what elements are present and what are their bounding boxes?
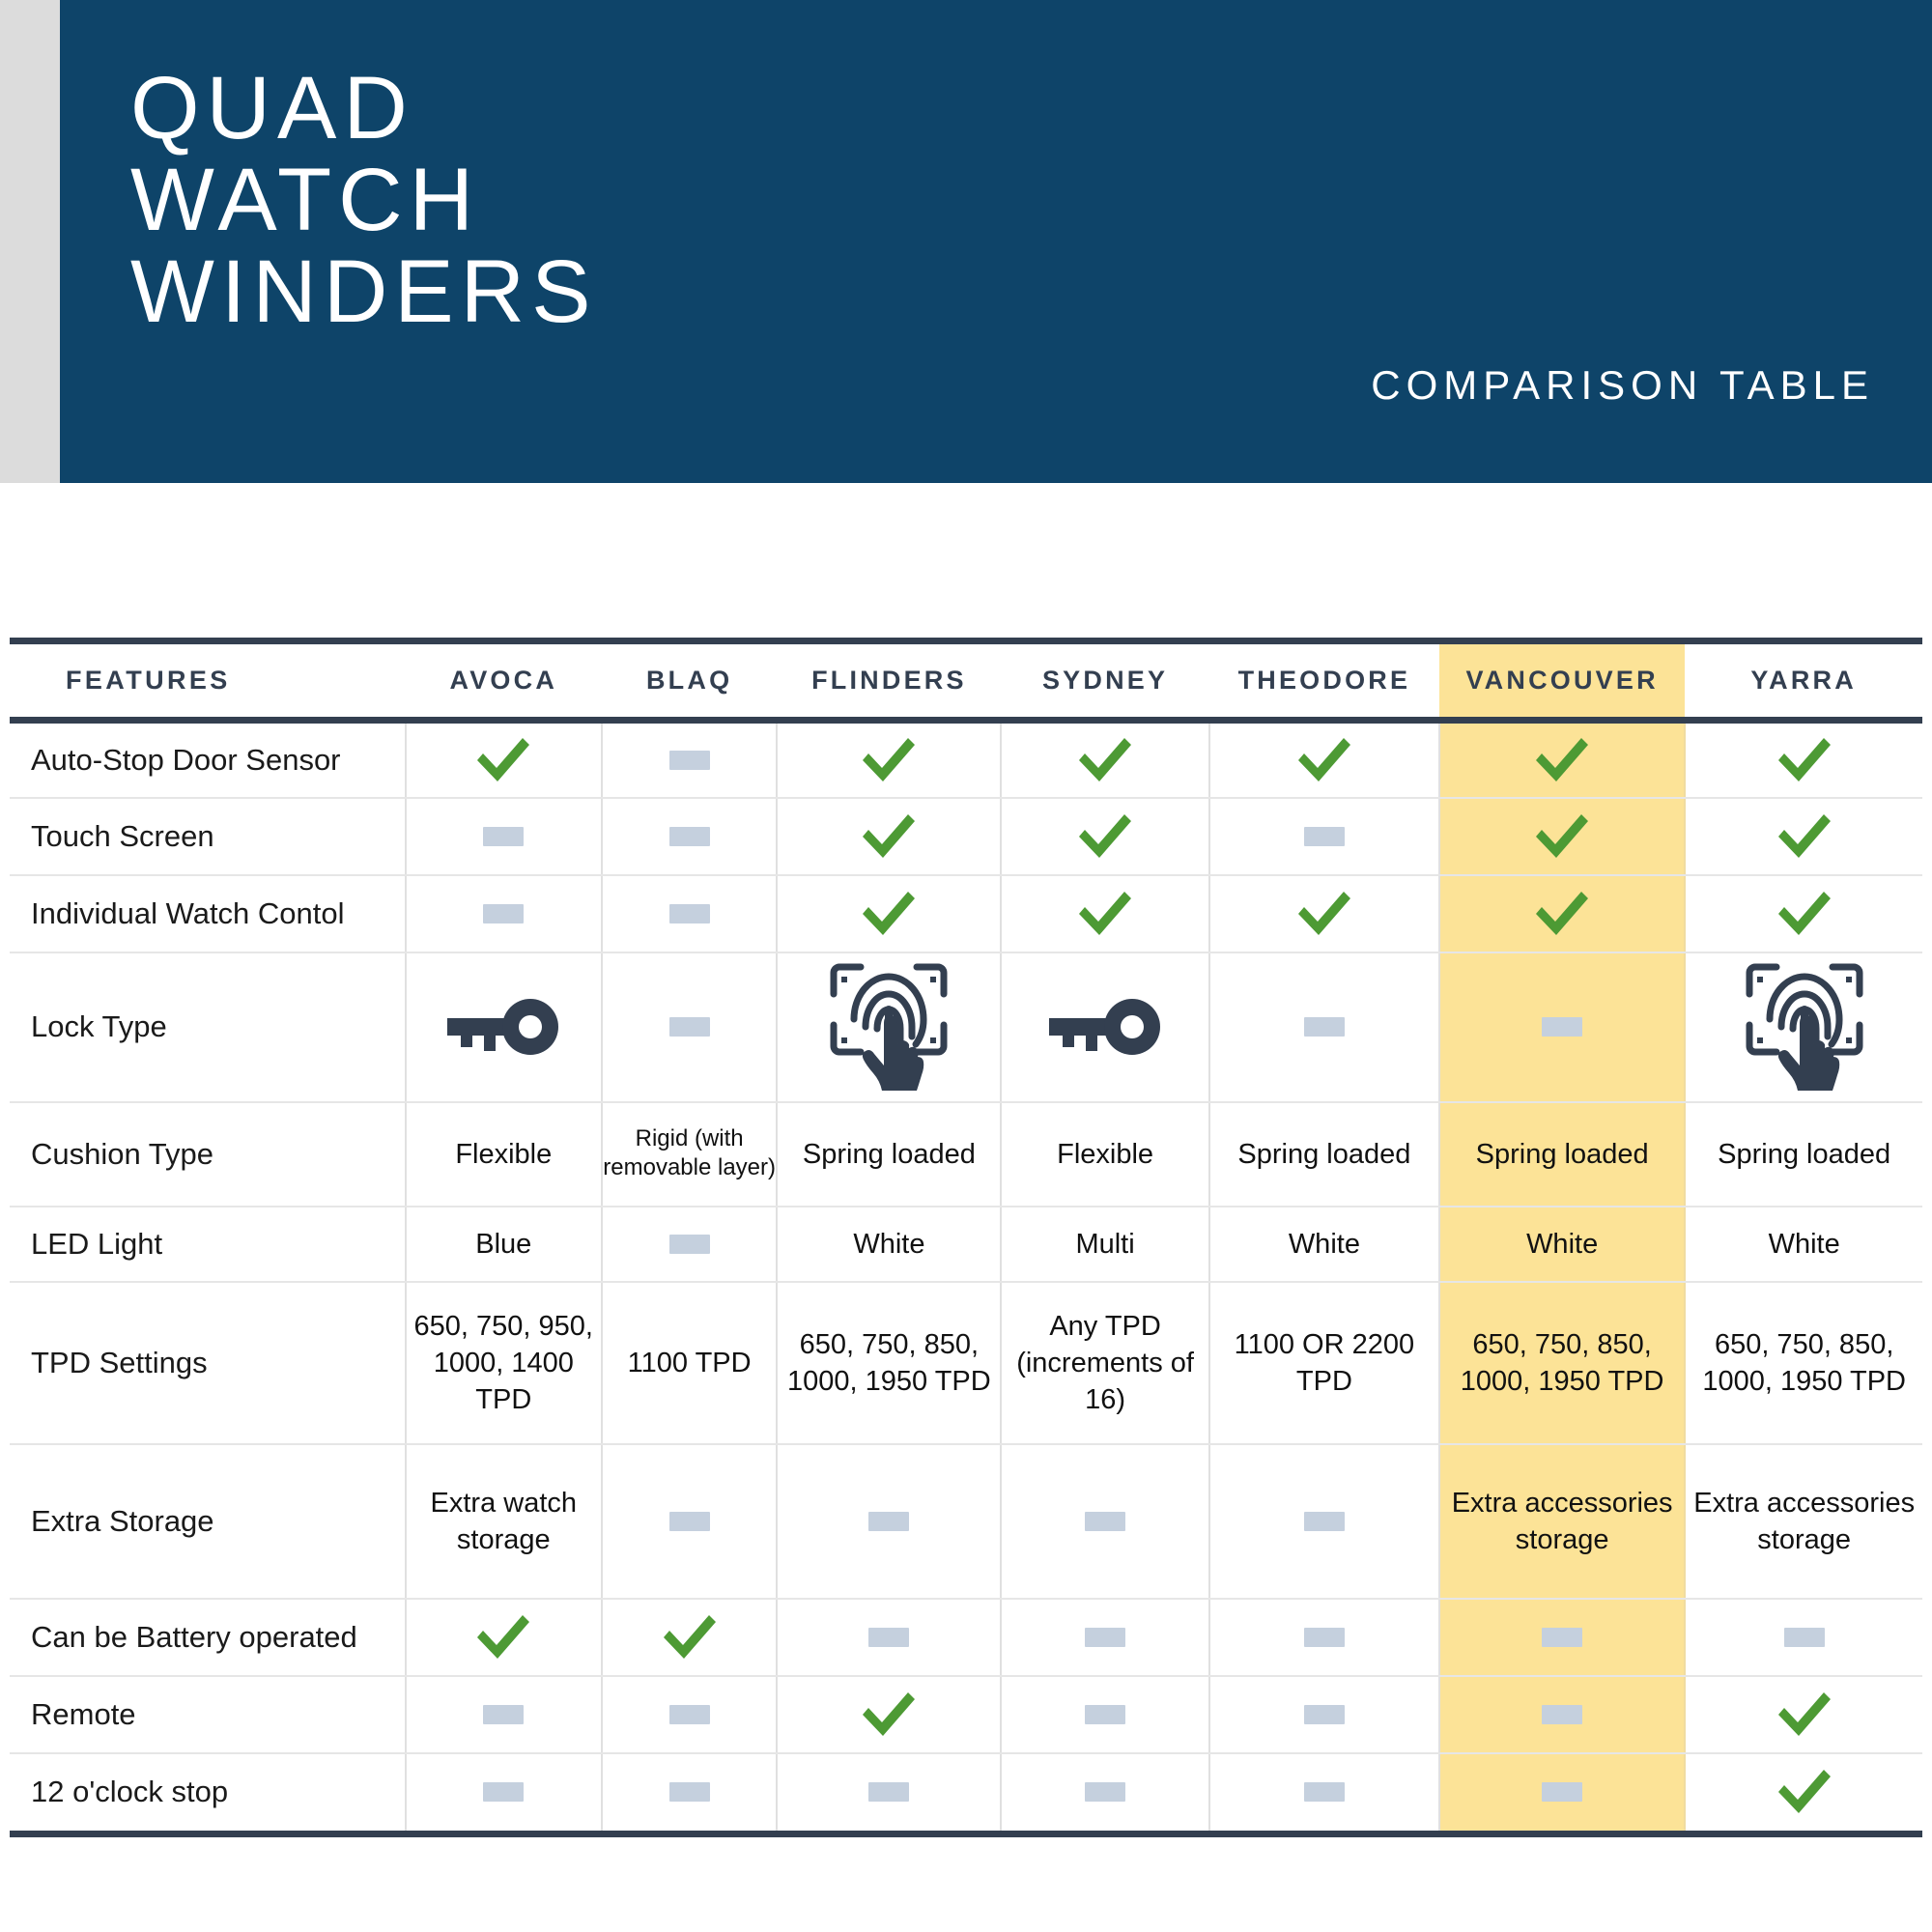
check-icon — [778, 890, 1000, 938]
cell-avoca-5: Blue — [406, 1207, 602, 1282]
cell-sydney-6: Any TPD (increments of 16) — [1001, 1282, 1209, 1444]
check-icon — [1686, 1768, 1922, 1816]
cell-avoca-10 — [406, 1753, 602, 1831]
not-available-dash-icon — [603, 827, 777, 846]
comparison-table-page: QUAD WATCH WINDERS COMPARISON TABLE FEAT… — [0, 0, 1932, 1932]
cell-yarra-2 — [1685, 875, 1922, 952]
cell-value: Any TPD (increments of 16) — [1016, 1311, 1194, 1415]
cell-flinders-2 — [777, 875, 1001, 952]
table-row: Cushion TypeFlexibleRigid (with removabl… — [10, 1102, 1922, 1207]
not-available-dash-icon — [1210, 1705, 1438, 1724]
not-available-dash-icon — [1210, 1782, 1438, 1802]
cell-vancouver-7: Extra accessories storage — [1439, 1444, 1685, 1599]
cell-blaq-8 — [602, 1599, 778, 1676]
cell-blaq-4: Rigid (with removable layer) — [602, 1102, 778, 1207]
row-feature-label: TPD Settings — [10, 1282, 406, 1444]
not-available-dash-icon — [1002, 1705, 1208, 1724]
check-icon — [407, 1613, 601, 1662]
table-row: 12 o'clock stop — [10, 1753, 1922, 1831]
cell-avoca-9 — [406, 1676, 602, 1753]
page-title: QUAD WATCH WINDERS — [130, 63, 597, 338]
not-available-dash-icon — [407, 904, 601, 923]
check-icon — [1686, 812, 1922, 861]
check-icon — [778, 1690, 1000, 1739]
cell-yarra-6: 650, 750, 850, 1000, 1950 TPD — [1685, 1282, 1922, 1444]
row-feature-label: 12 o'clock stop — [10, 1753, 406, 1831]
not-available-dash-icon — [603, 1782, 777, 1802]
cell-avoca-1 — [406, 798, 602, 875]
cell-yarra-1 — [1685, 798, 1922, 875]
table-row: Remote — [10, 1676, 1922, 1753]
column-header-yarra: YARRA — [1685, 641, 1922, 721]
cell-value: White — [1526, 1229, 1598, 1260]
not-available-dash-icon — [778, 1512, 1000, 1531]
cell-avoca-6: 650, 750, 950, 1000, 1400 TPD — [406, 1282, 602, 1444]
cell-value: Spring loaded — [1718, 1139, 1890, 1170]
cell-blaq-1 — [602, 798, 778, 875]
not-available-dash-icon — [603, 904, 777, 923]
cell-sydney-2 — [1001, 875, 1209, 952]
check-icon — [1440, 890, 1684, 938]
cell-vancouver-6: 650, 750, 850, 1000, 1950 TPD — [1439, 1282, 1685, 1444]
row-feature-label: Auto-Stop Door Sensor — [10, 721, 406, 798]
cell-value: White — [1769, 1229, 1840, 1260]
not-available-dash-icon — [603, 1017, 777, 1037]
row-feature-label: Extra Storage — [10, 1444, 406, 1599]
cell-vancouver-2 — [1439, 875, 1685, 952]
row-feature-label: Can be Battery operated — [10, 1599, 406, 1676]
cell-value: White — [853, 1229, 924, 1260]
row-feature-label: LED Light — [10, 1207, 406, 1282]
column-header-avoca: AVOCA — [406, 641, 602, 721]
column-header-theodore: THEODORE — [1209, 641, 1439, 721]
table-row: Auto-Stop Door Sensor — [10, 721, 1922, 798]
check-icon — [1210, 736, 1438, 784]
not-available-dash-icon — [407, 1782, 601, 1802]
not-available-dash-icon — [1686, 1628, 1922, 1647]
check-icon — [1440, 812, 1684, 861]
not-available-dash-icon — [1210, 1628, 1438, 1647]
cell-value: Multi — [1075, 1229, 1134, 1260]
table-head: FEATURES AVOCABLAQFLINDERSSYDNEYTHEODORE… — [10, 641, 1922, 721]
cell-flinders-10 — [777, 1753, 1001, 1831]
cell-vancouver-4: Spring loaded — [1439, 1102, 1685, 1207]
cell-theodore-10 — [1209, 1753, 1439, 1831]
table-row: Touch Screen — [10, 798, 1922, 875]
not-available-dash-icon — [1002, 1628, 1208, 1647]
not-available-dash-icon — [407, 1705, 601, 1724]
cell-value: Flexible — [455, 1139, 552, 1170]
cell-value: Extra accessories storage — [1452, 1488, 1673, 1555]
cell-blaq-10 — [602, 1753, 778, 1831]
cell-flinders-5: White — [777, 1207, 1001, 1282]
cell-avoca-7: Extra watch storage — [406, 1444, 602, 1599]
column-header-flinders: FLINDERS — [777, 641, 1001, 721]
cell-blaq-6: 1100 TPD — [602, 1282, 778, 1444]
cell-flinders-0 — [777, 721, 1001, 798]
row-feature-label: Remote — [10, 1676, 406, 1753]
cell-value: Spring loaded — [803, 1139, 976, 1170]
not-available-dash-icon — [1440, 1705, 1684, 1724]
check-icon — [778, 736, 1000, 784]
cell-value: Extra accessories storage — [1693, 1488, 1915, 1555]
fingerprint-scan-icon — [1686, 959, 1922, 1094]
page-banner: QUAD WATCH WINDERS COMPARISON TABLE — [0, 0, 1932, 495]
not-available-dash-icon — [603, 1705, 777, 1724]
column-header-blaq: BLAQ — [602, 641, 778, 721]
cell-yarra-7: Extra accessories storage — [1685, 1444, 1922, 1599]
cell-sydney-1 — [1001, 798, 1209, 875]
cell-yarra-10 — [1685, 1753, 1922, 1831]
cell-flinders-1 — [777, 798, 1001, 875]
table-header-row: FEATURES AVOCABLAQFLINDERSSYDNEYTHEODORE… — [10, 641, 1922, 721]
not-available-dash-icon — [1210, 1512, 1438, 1531]
cell-sydney-10 — [1001, 1753, 1209, 1831]
row-feature-label: Lock Type — [10, 952, 406, 1102]
cell-sydney-5: Multi — [1001, 1207, 1209, 1282]
cell-flinders-3 — [777, 952, 1001, 1102]
cell-theodore-4: Spring loaded — [1209, 1102, 1439, 1207]
cell-yarra-4: Spring loaded — [1685, 1102, 1922, 1207]
table-row: LED LightBlueWhiteMultiWhiteWhiteWhite — [10, 1207, 1922, 1282]
cell-blaq-2 — [602, 875, 778, 952]
banner-subtitle: COMPARISON TABLE — [1371, 362, 1874, 409]
cell-vancouver-10 — [1439, 1753, 1685, 1831]
comparison-table-wrapper: FEATURES AVOCABLAQFLINDERSSYDNEYTHEODORE… — [10, 638, 1922, 1837]
row-feature-label: Cushion Type — [10, 1102, 406, 1207]
cell-value: Extra watch storage — [431, 1488, 578, 1555]
cell-theodore-7 — [1209, 1444, 1439, 1599]
not-available-dash-icon — [1440, 1017, 1684, 1037]
column-header-sydney: SYDNEY — [1001, 641, 1209, 721]
not-available-dash-icon — [1210, 827, 1438, 846]
cell-blaq-3 — [602, 952, 778, 1102]
table-row: TPD Settings650, 750, 950, 1000, 1400 TP… — [10, 1282, 1922, 1444]
cell-flinders-4: Spring loaded — [777, 1102, 1001, 1207]
cell-theodore-6: 1100 OR 2200 TPD — [1209, 1282, 1439, 1444]
cell-value: 650, 750, 850, 1000, 1950 TPD — [1461, 1329, 1664, 1397]
cell-yarra-5: White — [1685, 1207, 1922, 1282]
table-row: Lock Type — [10, 952, 1922, 1102]
check-icon — [407, 736, 601, 784]
check-icon — [1002, 736, 1208, 784]
cell-yarra-3 — [1685, 952, 1922, 1102]
cell-value: 650, 750, 850, 1000, 1950 TPD — [787, 1329, 991, 1397]
cell-blaq-7 — [602, 1444, 778, 1599]
cell-value: Flexible — [1057, 1139, 1153, 1170]
check-icon — [1210, 890, 1438, 938]
table-body: Auto-Stop Door SensorTouch ScreenIndivid… — [10, 721, 1922, 1831]
cell-vancouver-5: White — [1439, 1207, 1685, 1282]
fingerprint-scan-icon — [778, 959, 1000, 1094]
cell-value: 1100 OR 2200 TPD — [1235, 1329, 1415, 1397]
cell-theodore-8 — [1209, 1599, 1439, 1676]
cell-sydney-0 — [1001, 721, 1209, 798]
table-row: Individual Watch Contol — [10, 875, 1922, 952]
cell-sydney-8 — [1001, 1599, 1209, 1676]
cell-theodore-5: White — [1209, 1207, 1439, 1282]
not-available-dash-icon — [603, 1235, 777, 1254]
cell-avoca-3 — [406, 952, 602, 1102]
cell-yarra-0 — [1685, 721, 1922, 798]
table-bottom-rule — [10, 1831, 1922, 1837]
cell-yarra-8 — [1685, 1599, 1922, 1676]
cell-avoca-2 — [406, 875, 602, 952]
cell-value: 650, 750, 950, 1000, 1400 TPD — [414, 1311, 593, 1415]
check-icon — [1440, 736, 1684, 784]
banner-grey-strip — [0, 0, 60, 483]
cell-avoca-8 — [406, 1599, 602, 1676]
not-available-dash-icon — [1210, 1017, 1438, 1037]
cell-theodore-2 — [1209, 875, 1439, 952]
cell-yarra-9 — [1685, 1676, 1922, 1753]
not-available-dash-icon — [1002, 1782, 1208, 1802]
not-available-dash-icon — [603, 751, 777, 770]
cell-value: 1100 TPD — [628, 1348, 752, 1378]
cell-theodore-0 — [1209, 721, 1439, 798]
cell-theodore-1 — [1209, 798, 1439, 875]
cell-value: 650, 750, 850, 1000, 1950 TPD — [1702, 1329, 1906, 1397]
check-icon — [1002, 890, 1208, 938]
cell-flinders-7 — [777, 1444, 1001, 1599]
cell-sydney-9 — [1001, 1676, 1209, 1753]
not-available-dash-icon — [1440, 1628, 1684, 1647]
cell-vancouver-9 — [1439, 1676, 1685, 1753]
table-row: Can be Battery operated — [10, 1599, 1922, 1676]
cell-vancouver-0 — [1439, 721, 1685, 798]
cell-sydney-3 — [1001, 952, 1209, 1102]
key-icon — [1002, 997, 1208, 1057]
cell-value: Blue — [475, 1229, 531, 1260]
cell-sydney-4: Flexible — [1001, 1102, 1209, 1207]
table-row: Extra StorageExtra watch storageExtra ac… — [10, 1444, 1922, 1599]
column-header-features: FEATURES — [10, 641, 406, 721]
cell-value: Spring loaded — [1476, 1139, 1649, 1170]
cell-value: White — [1289, 1229, 1360, 1260]
cell-theodore-9 — [1209, 1676, 1439, 1753]
cell-blaq-5 — [602, 1207, 778, 1282]
not-available-dash-icon — [603, 1512, 777, 1531]
cell-vancouver-1 — [1439, 798, 1685, 875]
not-available-dash-icon — [1002, 1512, 1208, 1531]
check-icon — [1686, 890, 1922, 938]
cell-value: Spring loaded — [1237, 1139, 1410, 1170]
cell-flinders-8 — [777, 1599, 1001, 1676]
row-feature-label: Touch Screen — [10, 798, 406, 875]
column-header-vancouver: VANCOUVER — [1439, 641, 1685, 721]
comparison-table: FEATURES AVOCABLAQFLINDERSSYDNEYTHEODORE… — [10, 638, 1922, 1831]
cell-blaq-9 — [602, 1676, 778, 1753]
row-feature-label: Individual Watch Contol — [10, 875, 406, 952]
cell-theodore-3 — [1209, 952, 1439, 1102]
not-available-dash-icon — [778, 1782, 1000, 1802]
not-available-dash-icon — [778, 1628, 1000, 1647]
cell-flinders-6: 650, 750, 850, 1000, 1950 TPD — [777, 1282, 1001, 1444]
cell-avoca-0 — [406, 721, 602, 798]
cell-blaq-0 — [602, 721, 778, 798]
cell-sydney-7 — [1001, 1444, 1209, 1599]
not-available-dash-icon — [407, 827, 601, 846]
check-icon — [603, 1613, 777, 1662]
check-icon — [1002, 812, 1208, 861]
check-icon — [778, 812, 1000, 861]
cell-value: Rigid (with removable layer) — [603, 1124, 777, 1182]
key-icon — [407, 997, 601, 1057]
cell-vancouver-3 — [1439, 952, 1685, 1102]
check-icon — [1686, 736, 1922, 784]
cell-flinders-9 — [777, 1676, 1001, 1753]
check-icon — [1686, 1690, 1922, 1739]
cell-vancouver-8 — [1439, 1599, 1685, 1676]
cell-avoca-4: Flexible — [406, 1102, 602, 1207]
not-available-dash-icon — [1440, 1782, 1684, 1802]
